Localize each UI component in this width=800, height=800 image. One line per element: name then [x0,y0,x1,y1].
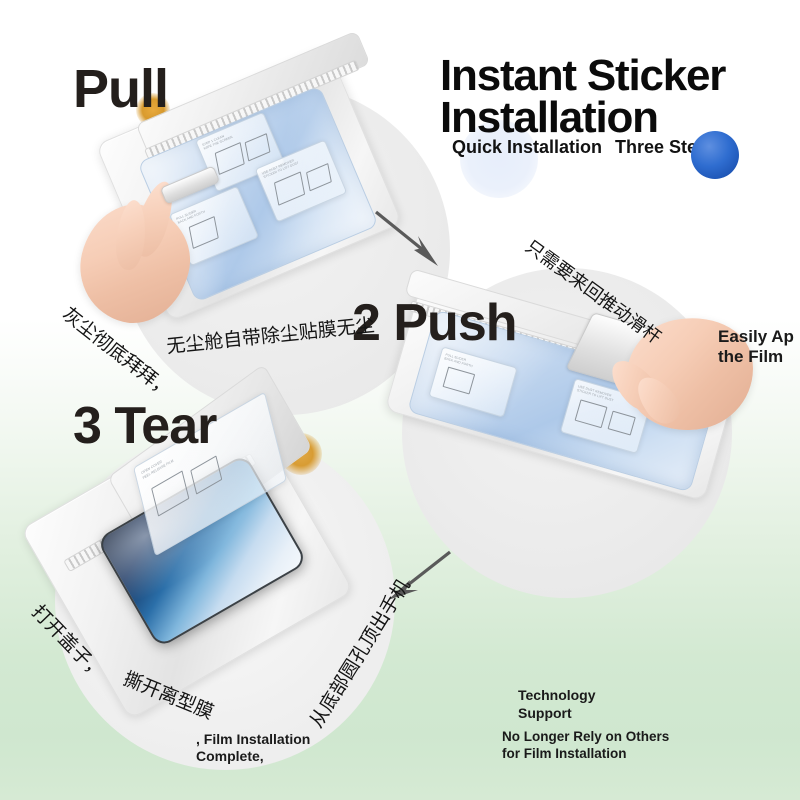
blue-dot-decoration-icon [691,131,739,179]
step-1-label: Pull [73,58,168,120]
step2-sheet-a-glyph [443,367,476,395]
step-3-label: 3 Tear [73,396,216,456]
sheet-c-glyph [189,216,219,249]
sheet-a-glyph [215,142,245,175]
subtitle-quick-installation: Quick Installation [452,137,602,158]
sheet-b-glyph [274,171,305,205]
sheet-a-glyph-2 [245,133,271,161]
step-2-label: 2 Push [352,293,517,353]
step2-sheet-b-glyph-2 [607,411,635,436]
footer-rely-note: No Longer Rely on Others for Film Instal… [502,729,669,763]
footer-technology-support: Technology Support [518,687,596,722]
arrow-down-right-icon [372,208,442,270]
page-subtitle: Quick Installation Three Steps [452,137,800,161]
poster-canvas: STEP 1 CLEAN WIPE THE SCREEN USE DUST RE… [0,0,800,800]
step3-sheet-glyph-2 [190,455,222,494]
sheet-b-glyph-2 [306,163,332,191]
step3-sheet-glyph [151,470,189,516]
page-title: Instant Sticker Installation [440,55,800,139]
step-2-caption-en: Easily Ap the Film [718,327,794,367]
step2-sheet-b-glyph [575,399,608,428]
step-3-caption-en: , Film Installation Complete, [196,731,310,765]
